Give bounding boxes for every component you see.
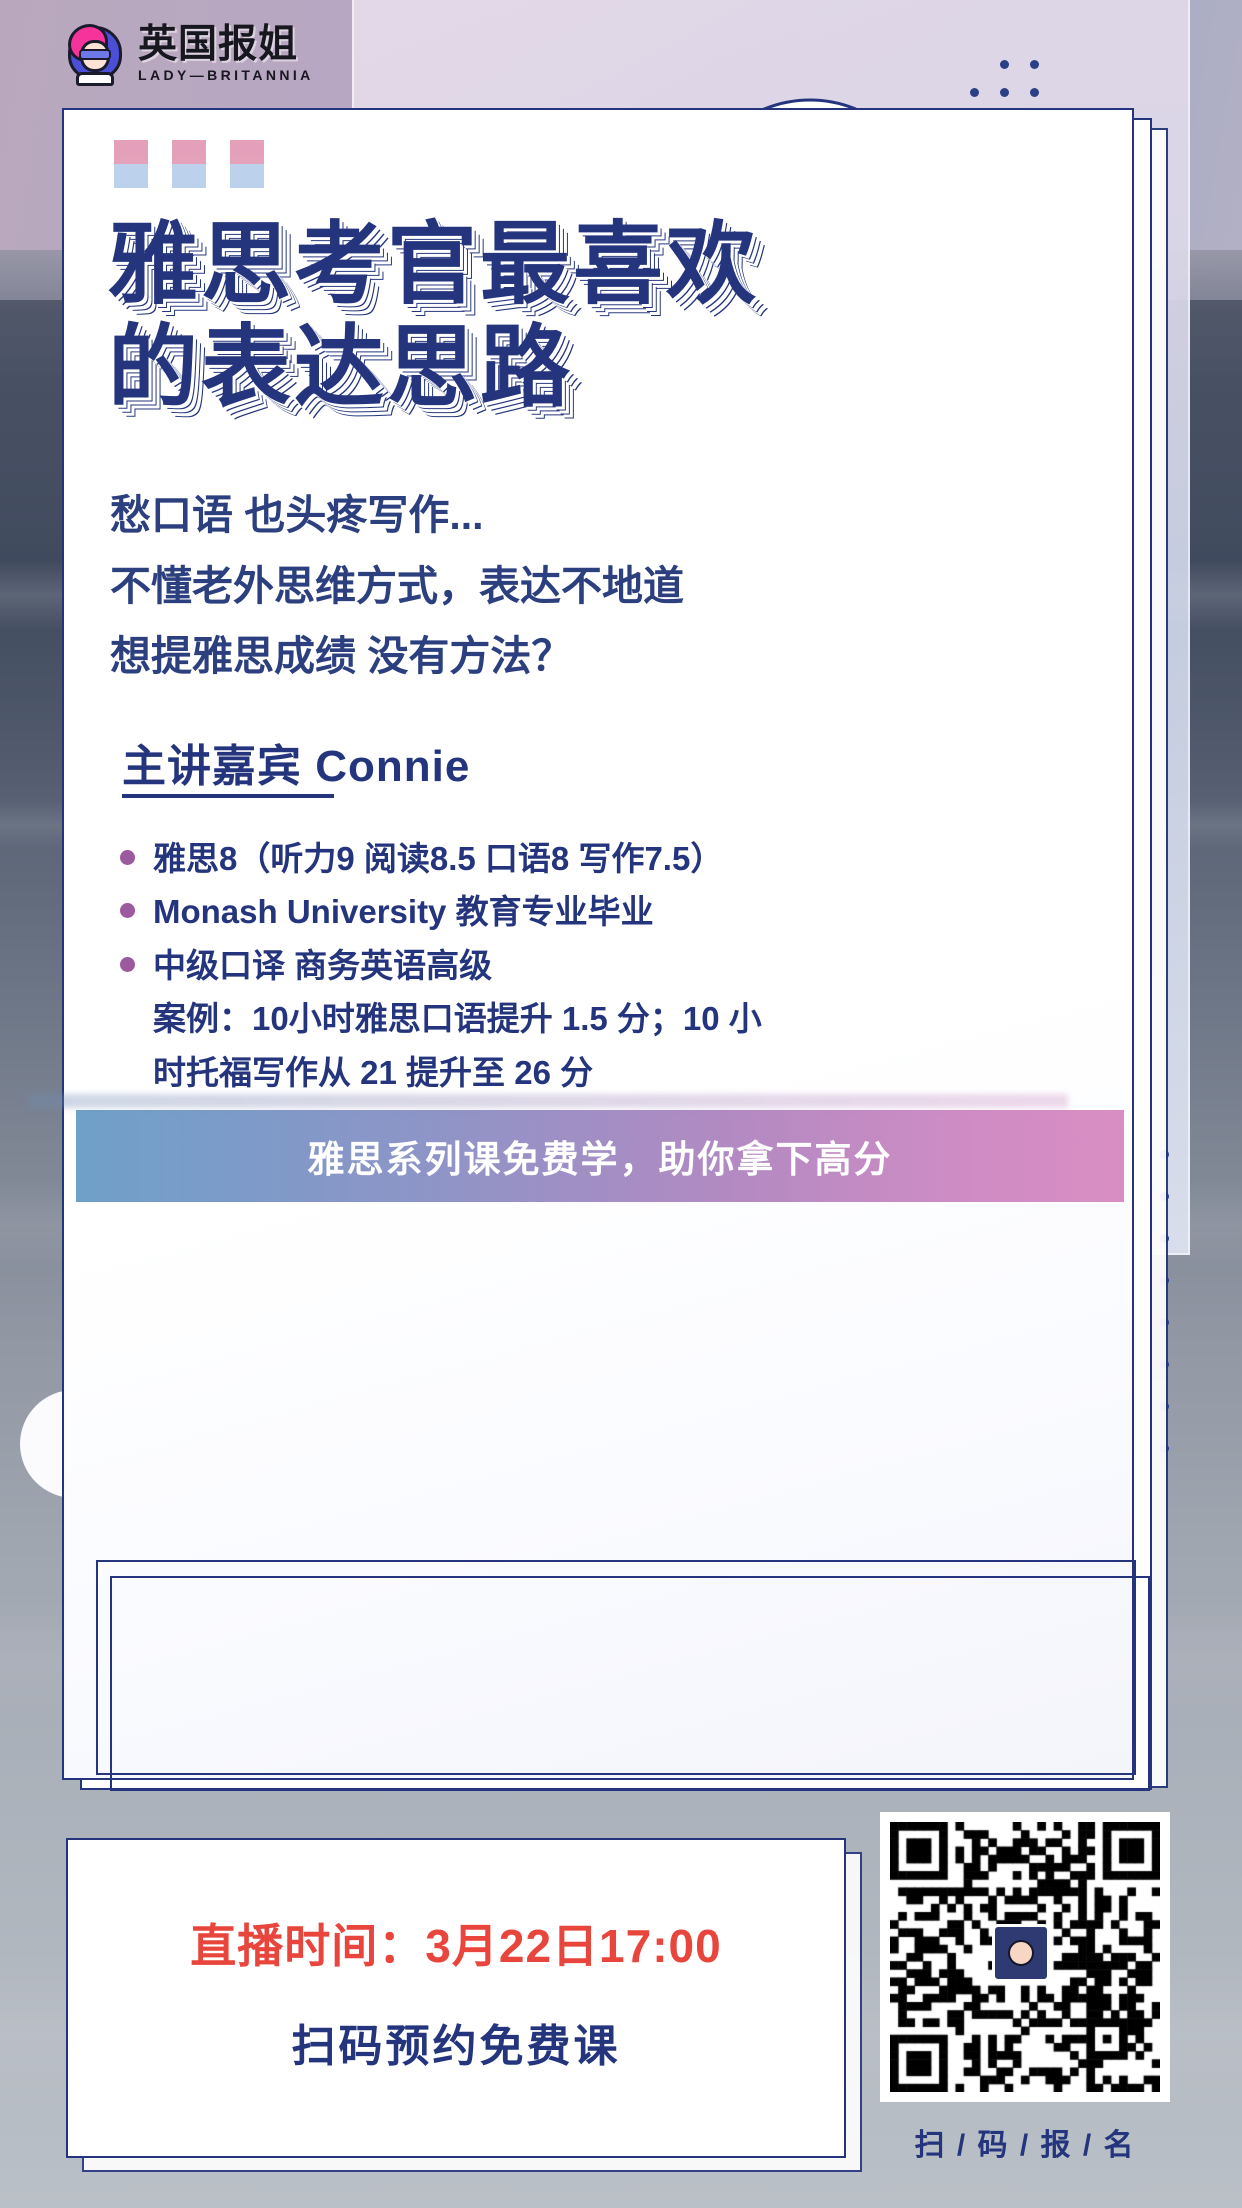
card-fold-outline-2: [110, 1576, 1150, 1791]
credential-3: 中级口译 商务英语高级: [153, 939, 492, 992]
page-title: 雅思考官最喜欢 的表达思路: [108, 214, 868, 419]
decor-triangles: [114, 140, 264, 188]
subheading-3: 想提雅思成绩 没有方法？: [110, 621, 970, 692]
speaker-heading: 主讲嘉宾 Connie: [122, 730, 470, 794]
credential-1: 雅思8（听力9 阅读8.5 口语8 写作7.5）: [153, 832, 723, 885]
triangle-icon: [230, 140, 264, 188]
scan-note: 扫码预约免费课: [68, 2010, 844, 2074]
brand-name-en: LADY—BRITANNIA: [138, 68, 314, 82]
brand-name-cn: 英国报姐: [138, 25, 314, 64]
live-time-label: 直播时间：: [190, 1920, 425, 1972]
credential-2: Monash University 教育专业毕业: [153, 885, 654, 938]
case-line-1: 案例：10小时雅思口语提升 1.5 分；10 小: [153, 992, 820, 1045]
speaker-divider: [122, 794, 334, 798]
list-item: Monash University 教育专业毕业: [120, 885, 820, 938]
promo-banner-shadow: [28, 1094, 1068, 1108]
info-box: 直播时间：3月22日17:00 扫码预约免费课: [66, 1838, 846, 2158]
list-item: 雅思8（听力9 阅读8.5 口语8 写作7.5）: [120, 832, 820, 885]
speaker-credentials: 雅思8（听力9 阅读8.5 口语8 写作7.5） Monash Universi…: [120, 832, 820, 1099]
brand-logo: 英国报姐 LADY—BRITANNIA: [64, 22, 314, 84]
bullet-icon: [120, 850, 135, 865]
bullet-icon: [120, 903, 135, 918]
subheading-list: 愁口语 也头疼写作... 不懂老外思维方式，表达不地道 想提雅思成绩 没有方法？: [110, 480, 970, 692]
subheading-2: 不懂老外思维方式，表达不地道: [110, 551, 970, 622]
qr-center-avatar: [992, 1924, 1050, 1982]
headline-line-2: 的表达思路: [108, 317, 868, 420]
bullet-icon: [120, 957, 135, 972]
triangle-icon: [114, 140, 148, 188]
lady-avatar-icon: [64, 22, 126, 84]
triangle-icon: [172, 140, 206, 188]
list-item: 中级口译 商务英语高级: [120, 939, 820, 992]
main-card: 雅思考官最喜欢 的表达思路 愁口语 也头疼写作... 不懂老外思维方式，表达不地…: [62, 108, 1134, 1780]
case-line-2: 时托福写作从 21 提升至 26 分: [153, 1046, 820, 1099]
qr-code-icon[interactable]: [880, 1812, 1170, 2102]
promo-banner-text: 雅思系列课免费学，助你拿下高分: [308, 1129, 893, 1183]
subheading-1: 愁口语 也头疼写作...: [110, 480, 970, 551]
live-time-row: 直播时间：3月22日17:00: [68, 1910, 844, 1976]
headline-line-1: 雅思考官最喜欢: [108, 214, 868, 317]
promo-banner: 雅思系列课免费学，助你拿下高分: [76, 1110, 1124, 1202]
qr-caption: 扫 / 码 / 报 / 名: [880, 2120, 1170, 2164]
live-time-value: 3月22日17:00: [425, 1920, 721, 1972]
